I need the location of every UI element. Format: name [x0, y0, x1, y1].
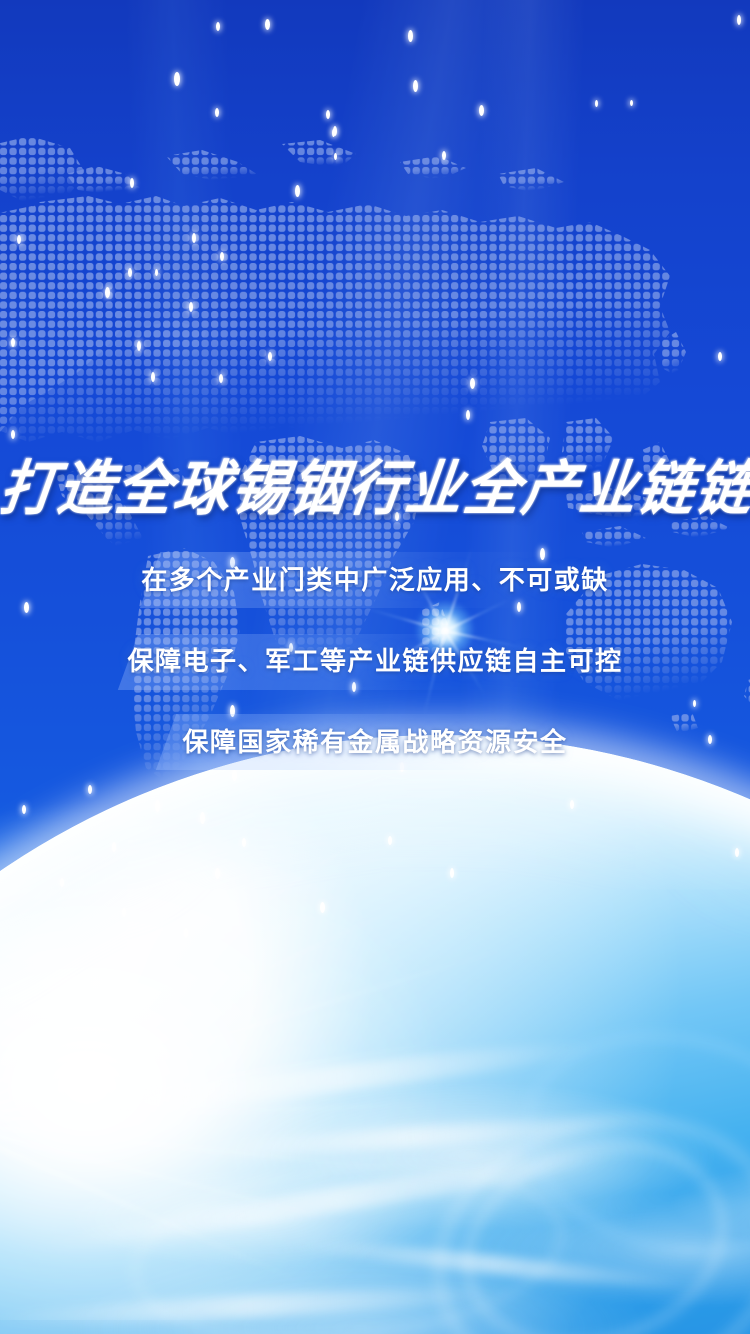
- earth-globe: [0, 735, 750, 1334]
- earth-atmosphere-glow: [0, 735, 750, 1334]
- poster-root: 打造全球锡铟行业全产业链链主 在多个产业门类中广泛应用、不可或缺 保障电子、军工…: [0, 0, 750, 1334]
